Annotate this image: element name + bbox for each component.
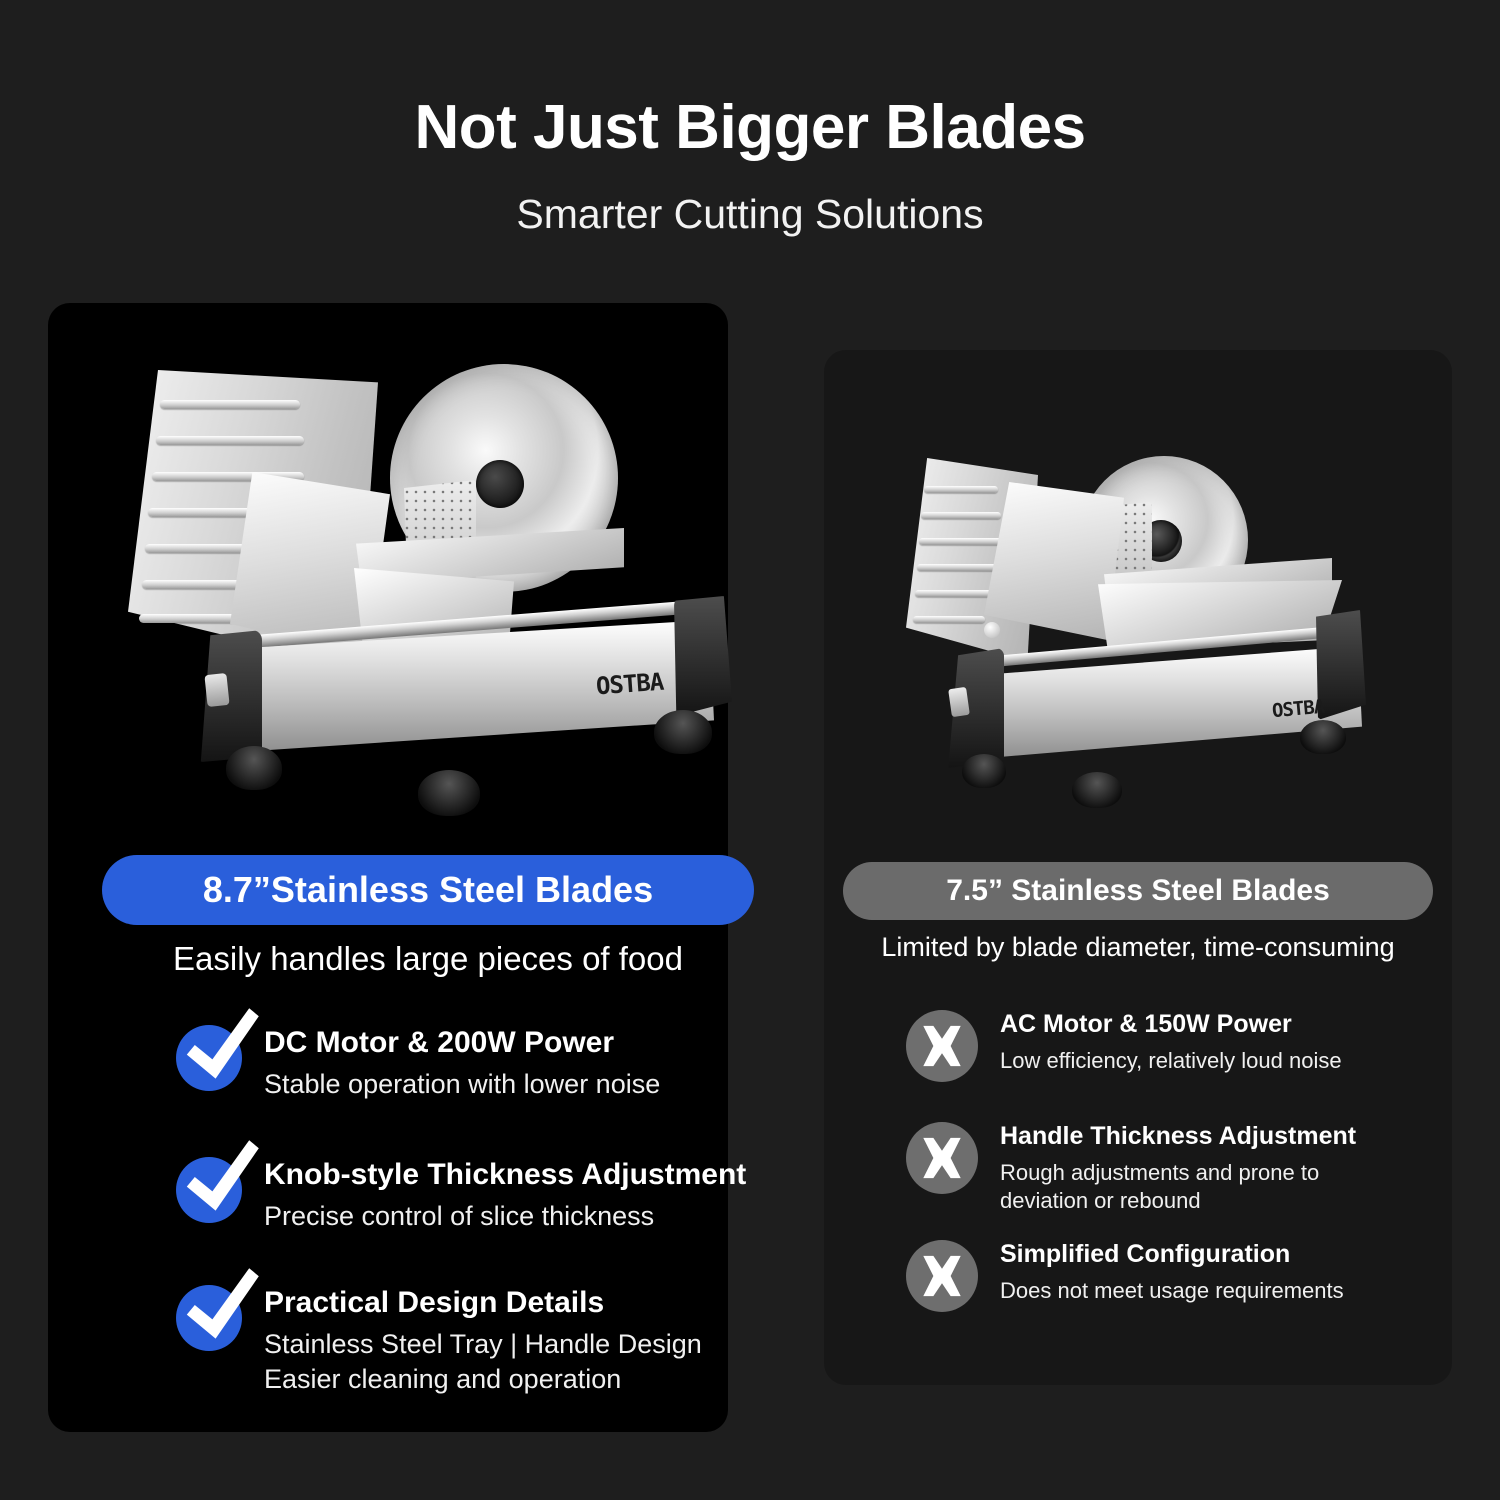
feature-title: DC Motor & 200W Power xyxy=(264,1025,660,1060)
x-glyph xyxy=(906,1122,978,1194)
feature-row-knob-thickness: Knob-style Thickness Adjustment Precise … xyxy=(176,1157,756,1234)
x-glyph xyxy=(906,1240,978,1312)
feature-row-simplified-config: Simplified Configuration Does not meet u… xyxy=(906,1240,1426,1312)
plate-rib xyxy=(915,590,993,597)
product-image-featured: OSTBA xyxy=(118,352,758,832)
x-icon xyxy=(906,1122,978,1194)
check-icon xyxy=(176,1157,242,1223)
page-title: Not Just Bigger Blades xyxy=(0,92,1500,163)
slicer-foot xyxy=(962,754,1006,788)
slicer-foot xyxy=(418,770,480,816)
feature-row-dc-motor: DC Motor & 200W Power Stable operation w… xyxy=(176,1025,736,1102)
badge-label: 8.7”Stainless Steel Blades xyxy=(203,869,653,911)
check-icon xyxy=(176,1285,242,1351)
feature-title: AC Motor & 150W Power xyxy=(1000,1010,1342,1040)
check-glyph xyxy=(182,1145,262,1225)
plate-rib xyxy=(913,616,985,623)
page-subtitle: Smarter Cutting Solutions xyxy=(0,191,1500,238)
slicer-foot xyxy=(1072,772,1122,808)
caption-featured: Easily handles large pieces of food xyxy=(102,940,754,978)
brand-logo: OSTBA xyxy=(595,668,664,701)
feature-desc: Does not meet usage requirements xyxy=(1000,1277,1344,1305)
header: Not Just Bigger Blades Smarter Cutting S… xyxy=(0,0,1500,238)
feature-title: Knob-style Thickness Adjustment xyxy=(264,1157,746,1192)
base-end-cap-right xyxy=(674,596,732,716)
feature-desc: Rough adjustments and prone to deviation… xyxy=(1000,1159,1356,1215)
power-switch xyxy=(948,687,970,717)
feature-desc: Precise control of slice thickness xyxy=(264,1199,746,1234)
feature-row-practical-design: Practical Design Details Stainless Steel… xyxy=(176,1285,756,1396)
badge-label: 7.5” Stainless Steel Blades xyxy=(946,874,1330,908)
feature-row-ac-motor: AC Motor & 150W Power Low efficiency, re… xyxy=(906,1010,1426,1082)
feature-title: Simplified Configuration xyxy=(1000,1240,1344,1270)
feature-row-handle-thickness: Handle Thickness Adjustment Rough adjust… xyxy=(906,1122,1426,1215)
x-glyph xyxy=(906,1010,978,1082)
check-glyph xyxy=(182,1013,262,1093)
check-glyph xyxy=(182,1273,262,1353)
feature-title: Practical Design Details xyxy=(264,1285,702,1320)
plate-rib xyxy=(924,486,998,493)
plate-rib xyxy=(160,400,300,409)
product-image-competitor: OSTBA xyxy=(900,430,1400,810)
x-icon xyxy=(906,1240,978,1312)
feature-desc: Low efficiency, relatively loud noise xyxy=(1000,1047,1342,1075)
slicer-foot xyxy=(654,710,712,754)
badge-featured-blade-size: 8.7”Stainless Steel Blades xyxy=(102,855,754,925)
plate-rib xyxy=(156,436,304,445)
power-switch xyxy=(204,673,229,707)
feature-title: Handle Thickness Adjustment xyxy=(1000,1122,1356,1152)
plate-rib xyxy=(917,564,999,571)
caption-competitor: Limited by blade diameter, time-consumin… xyxy=(828,932,1448,963)
infographic-page: Not Just Bigger Blades Smarter Cutting S… xyxy=(0,0,1500,1500)
slicer-foot xyxy=(226,746,282,790)
blade-hub xyxy=(476,460,524,508)
adjustment-knob xyxy=(984,622,1000,638)
badge-competitor-blade-size: 7.5” Stainless Steel Blades xyxy=(843,862,1433,920)
feature-desc: Stable operation with lower noise xyxy=(264,1067,660,1102)
x-icon xyxy=(906,1010,978,1082)
plate-rib xyxy=(919,538,1002,545)
feature-desc: Stainless Steel Tray | Handle Design Eas… xyxy=(264,1327,702,1396)
brand-logo: OSTBA xyxy=(1271,696,1325,722)
plate-rib xyxy=(921,512,1001,519)
check-icon xyxy=(176,1025,242,1091)
slicer-foot xyxy=(1300,720,1346,754)
